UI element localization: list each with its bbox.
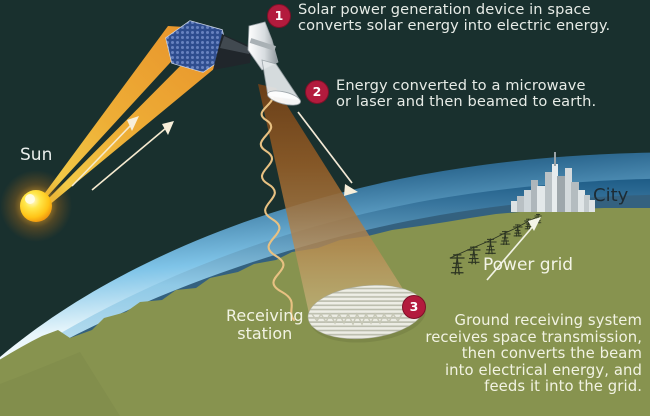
step-2-line-1: Energy converted to a microwave	[336, 77, 586, 94]
step-3-text: Ground receiving systemreceives space tr…	[425, 313, 642, 396]
step-3-line-2: receives space transmission,	[425, 329, 642, 346]
receiving-station-label: Receivingstation	[226, 307, 304, 343]
receiving-station-line-1: Receiving	[226, 306, 304, 325]
power-grid-label: Power grid	[483, 256, 573, 275]
step-2-line-2: or laser and then beamed to earth.	[336, 93, 596, 110]
step-3-line-3: then converts the beam	[462, 345, 642, 362]
step-badge-3: 3	[402, 295, 426, 319]
city-label: City	[593, 186, 628, 206]
space-solar-power-diagram: 1 Solar power generation device in space…	[0, 0, 650, 416]
step-3-line-5: feeds it into the grid.	[484, 378, 642, 395]
sun-icon	[0, 170, 72, 242]
step-3-line-4: into electrical energy, and	[445, 362, 642, 379]
step-1-text: Solar power generation device in spaceco…	[298, 2, 610, 35]
step-badge-2: 2	[305, 80, 329, 104]
step-2-text: Energy converted to a microwaveor laser …	[336, 78, 596, 111]
step-1-line-1: Solar power generation device in space	[298, 1, 591, 18]
sun-label: Sun	[20, 146, 52, 165]
step-1-line-2: converts solar energy into electric ener…	[298, 17, 610, 34]
step-badge-1: 1	[267, 4, 291, 28]
step-3-line-1: Ground receiving system	[455, 312, 642, 329]
receiving-station-line-2: station	[237, 324, 292, 343]
